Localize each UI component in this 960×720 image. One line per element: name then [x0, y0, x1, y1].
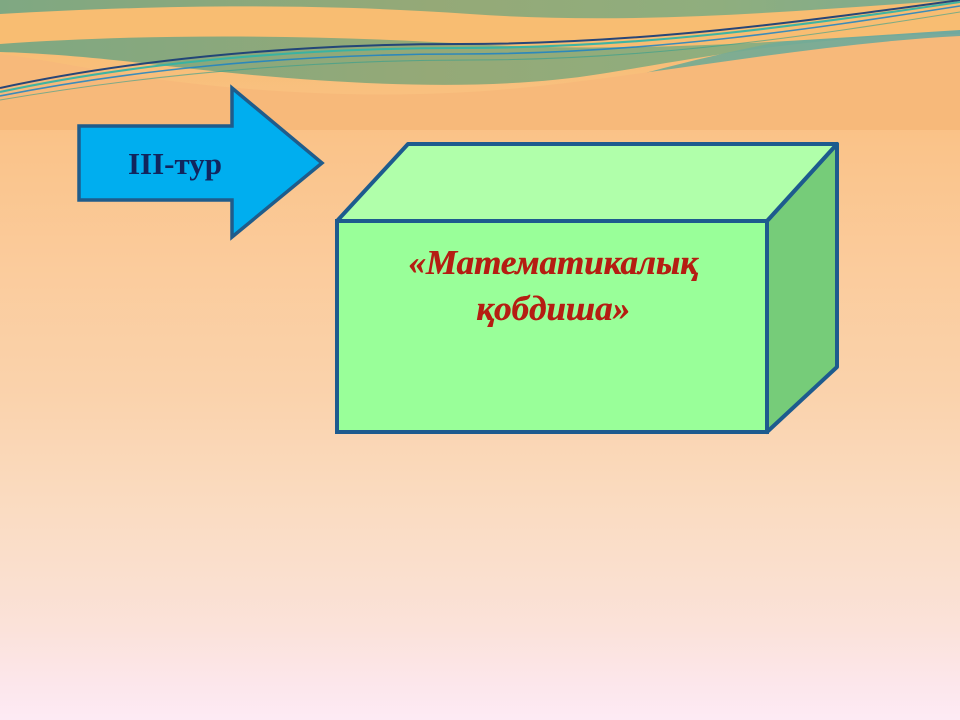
box-caption: «Математикалық қобдиша»	[345, 240, 761, 332]
cuboid-shape	[0, 0, 960, 720]
wave-band-teal-upper	[0, 0, 960, 85]
wave-line-hairline	[0, 12, 960, 100]
wave-band-orange-main	[0, 36, 960, 130]
wave-band-teal-lower	[560, 18, 960, 98]
box-caption-line-1: «Математикалық	[345, 240, 761, 286]
wave-line-blue	[0, 6, 960, 96]
wave-band-orange-upper	[0, 0, 960, 47]
right-arrow-shape	[0, 0, 960, 720]
slide-canvas: «Математикалық қобдиша» III-тур	[0, 0, 960, 720]
box-caption-line-2: қобдиша»	[345, 286, 761, 332]
cuboid-side-face	[767, 144, 837, 432]
decorative-wave-banner	[0, 0, 960, 130]
wave-line-navy	[0, 0, 960, 88]
arrow-label: III-тур	[80, 148, 270, 179]
cuboid-top-face	[337, 144, 837, 221]
wave-line-teal	[0, 2, 960, 92]
